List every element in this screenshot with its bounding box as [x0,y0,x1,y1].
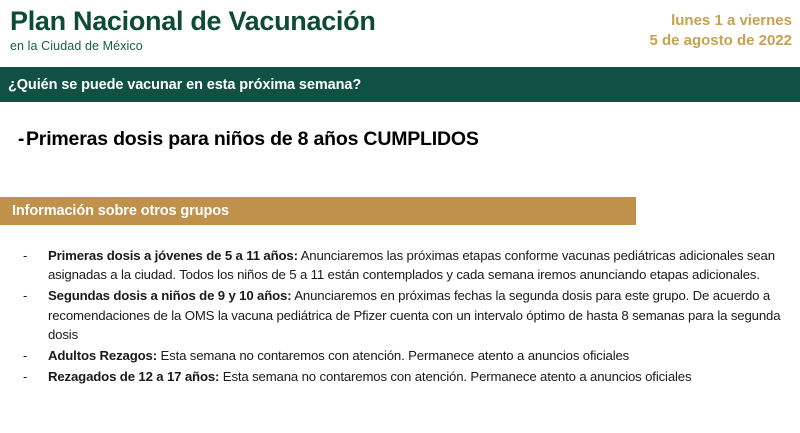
list-item: -Segundas dosis a niños de 9 y 10 años: … [0,286,784,344]
info-list: -Primeras dosis a jóvenes de 5 a 11 años… [0,246,800,388]
question-banner-text: ¿Quién se puede vacunar en esta próxima … [8,77,361,93]
list-item: -Adultos Rezagos: Esta semana no contare… [0,346,784,365]
list-item-body: Esta semana no contaremos con atención. … [219,369,691,384]
page-subtitle: en la Ciudad de México [10,40,376,53]
list-item-text: Primeras dosis a jóvenes de 5 a 11 años:… [48,246,784,284]
question-banner: ¿Quién se puede vacunar en esta próxima … [0,67,800,102]
section-banner-text: Información sobre otros grupos [12,203,229,219]
header-date-group: lunes 1 a viernes 5 de agosto de 2022 [649,7,792,51]
list-item-text: Rezagados de 12 a 17 años: Esta semana n… [48,367,784,386]
list-item-dash-icon: - [0,286,48,305]
list-item-dash-icon: - [0,346,48,365]
section-banner: Información sobre otros grupos [0,197,636,225]
main-bullet-text: Primeras dosis para niños de 8 años CUMP… [26,128,479,151]
main-bullet-dash-icon: - [0,129,26,151]
list-item-dash-icon: - [0,367,48,386]
date-line-1: lunes 1 a viernes [649,11,792,31]
date-line-2: 5 de agosto de 2022 [649,31,792,51]
main-bullet: - Primeras dosis para niños de 8 años CU… [0,128,780,151]
list-item-lead: Primeras dosis a jóvenes de 5 a 11 años: [48,248,298,263]
list-item-lead: Rezagados de 12 a 17 años: [48,369,219,384]
page-title: Plan Nacional de Vacunación [10,7,376,35]
list-item-dash-icon: - [0,246,48,265]
list-item-body: Esta semana no contaremos con atención. … [157,348,629,363]
header-left-group: Plan Nacional de Vacunación en la Ciudad… [10,7,376,53]
list-item-lead: Segundas dosis a niños de 9 y 10 años: [48,288,291,303]
list-item: -Rezagados de 12 a 17 años: Esta semana … [0,367,784,386]
list-item-text: Segundas dosis a niños de 9 y 10 años: A… [48,286,784,344]
header: Plan Nacional de Vacunación en la Ciudad… [0,0,800,67]
list-item: -Primeras dosis a jóvenes de 5 a 11 años… [0,246,784,284]
list-item-lead: Adultos Rezagos: [48,348,157,363]
list-item-text: Adultos Rezagos: Esta semana no contarem… [48,346,784,365]
slide-page: Plan Nacional de Vacunación en la Ciudad… [0,0,800,433]
